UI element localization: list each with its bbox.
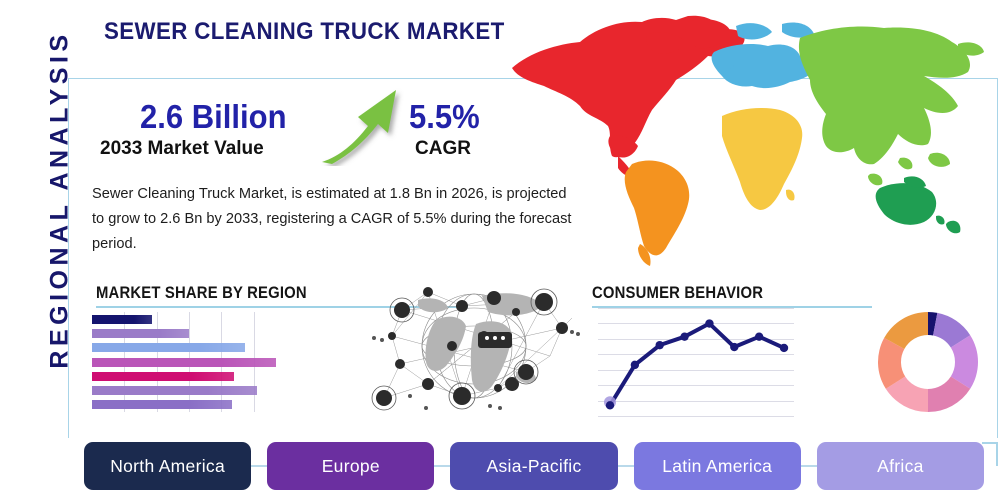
chip-row-connector: [982, 442, 997, 444]
consumer-behavior-heading: CONSUMER BEHAVIOR: [592, 284, 763, 303]
line-chart-point: [730, 343, 738, 351]
market-value-caption: 2033 Market Value: [100, 138, 264, 160]
bar-chart-bar: [92, 386, 257, 395]
market-share-heading: MARKET SHARE BY REGION: [96, 284, 307, 303]
region-chip-africa[interactable]: Africa: [817, 442, 984, 490]
growth-arrow-up-icon: [318, 86, 406, 166]
chip-connector: [251, 465, 267, 467]
page-title: SEWER CLEANING TRUCK MARKET: [104, 18, 505, 46]
line-chart-point: [705, 319, 713, 327]
global-network-globe-icon: [366, 276, 582, 420]
chip-connector: [801, 465, 817, 467]
market-share-bar-chart: [92, 312, 286, 412]
line-chart-point: [780, 344, 788, 352]
infographic-root: REGIONAL ANALYSIS SEWER CLEANING TRUCK M…: [0, 0, 1000, 500]
line-chart-point: [680, 332, 688, 340]
chip-connector: [434, 465, 450, 467]
bar-chart-bar: [92, 343, 245, 352]
bar-chart-bar: [92, 358, 276, 367]
line-chart-point: [755, 332, 763, 340]
region-chip-europe[interactable]: Europe: [267, 442, 434, 490]
bar-chart-bar: [92, 400, 232, 409]
line-chart-plot: [598, 308, 794, 416]
region-chip-latin-america[interactable]: Latin America: [634, 442, 801, 490]
cagr-figure: 5.5%: [409, 98, 480, 136]
market-value-figure: 2.6 Billion: [140, 98, 287, 136]
line-chart-point: [606, 401, 614, 409]
donut-chart-plot: [872, 306, 984, 418]
region-chip-north-america[interactable]: North America: [84, 442, 251, 490]
world-map-icon: [500, 8, 998, 276]
segment-donut-chart: [872, 306, 984, 418]
bar-chart-bar: [92, 329, 189, 338]
bar-chart-bar: [92, 372, 234, 381]
cagr-caption: CAGR: [415, 138, 471, 160]
consumer-behavior-line-chart: [598, 308, 794, 416]
region-nav-row: North AmericaEuropeAsia-PacificLatin Ame…: [84, 442, 984, 490]
line-chart-gridline: [598, 416, 794, 417]
region-chip-asia-pacific[interactable]: Asia-Pacific: [450, 442, 617, 490]
line-chart-point: [656, 341, 664, 349]
chip-connector: [618, 465, 634, 467]
panel-corner-connector: [996, 442, 998, 466]
line-chart-point: [631, 361, 639, 369]
bar-chart-bar: [92, 315, 152, 324]
